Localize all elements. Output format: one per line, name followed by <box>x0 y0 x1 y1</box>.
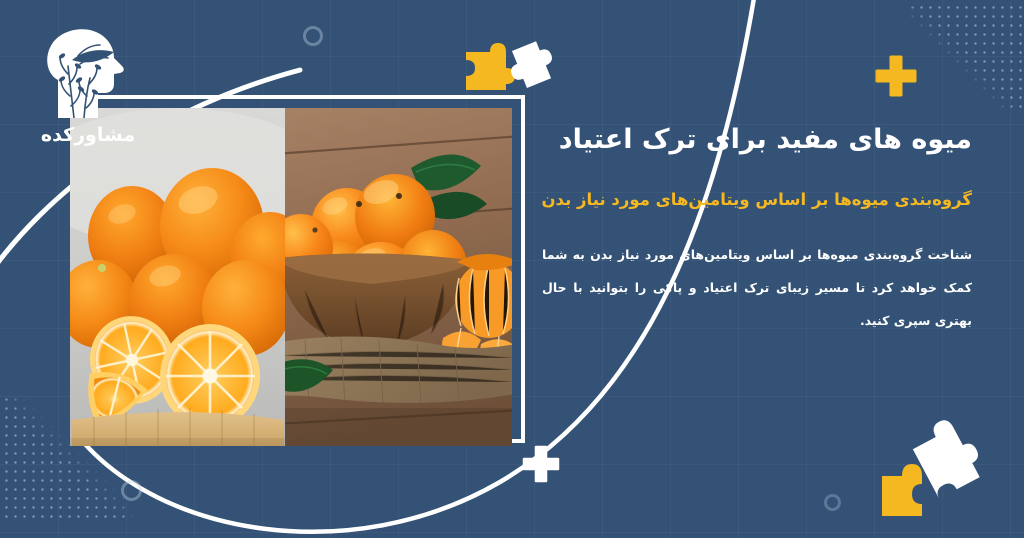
headline: میوه های مفید برای ترک اعتیاد <box>542 122 972 158</box>
tangerines-in-wooden-bowl-photo <box>285 108 512 446</box>
puzzle-piece-white <box>907 420 988 499</box>
brand-logo[interactable]: مشاورکده <box>28 22 148 154</box>
dot-grid-top-right <box>908 0 1024 114</box>
head-with-plants-icon <box>28 22 148 122</box>
body-text: شناخت گروه‌بندی میوه‌ها بر اساس ویتامین‌… <box>542 239 972 337</box>
puzzle-piece-orange <box>466 43 515 90</box>
photo-gallery <box>70 108 512 446</box>
subheadline: گروه‌بندی میوه‌ها بر اساس ویتامین‌های مو… <box>542 188 972 213</box>
oranges-on-wooden-board-photo <box>70 108 285 446</box>
puzzle-pair-top <box>460 28 568 100</box>
ring-bottom-right <box>824 494 841 511</box>
plus-bottom-center <box>522 445 560 483</box>
puzzle-piece-orange <box>882 464 922 516</box>
puzzle-piece-white <box>504 38 560 92</box>
promo-banner: مشاورکده <box>0 0 1024 538</box>
text-column: میوه های مفید برای ترک اعتیاد گروه‌بندی … <box>542 122 972 337</box>
ring-top-center <box>303 26 323 46</box>
puzzle-pair-bottom <box>872 420 994 528</box>
plus-top-right <box>875 55 917 97</box>
brand-name: مشاورکده <box>28 124 148 146</box>
ring-bottom-left <box>121 480 142 501</box>
